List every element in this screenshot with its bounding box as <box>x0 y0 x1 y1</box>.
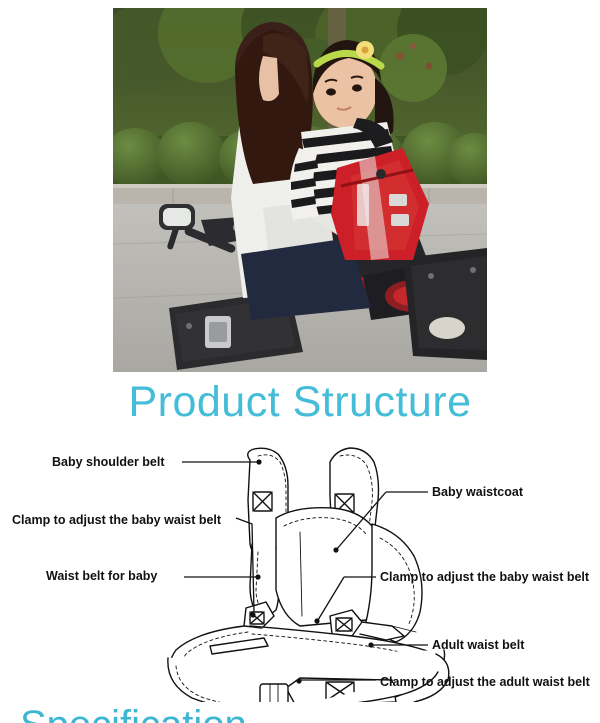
product-photo-illustration <box>113 8 487 372</box>
next-section-title-text: Specification <box>20 703 247 723</box>
label-clamp-baby-waist-belt-left: Clamp to adjust the baby waist belt <box>12 513 221 527</box>
label-baby-shoulder-belt: Baby shoulder belt <box>52 455 165 469</box>
next-section-title: Specification <box>0 703 600 723</box>
label-clamp-adult-waist-belt: Clamp to adjust the adult waist belt <box>380 675 590 689</box>
label-waist-belt-for-baby: Waist belt for baby <box>46 569 157 583</box>
label-baby-waistcoat: Baby waistcoat <box>432 485 523 499</box>
page-title: Product Structure <box>0 378 600 426</box>
label-clamp-baby-waist-belt-right: Clamp to adjust the baby waist belt <box>380 570 589 584</box>
label-adult-waist-belt: Adult waist belt <box>432 638 524 652</box>
product-photo <box>113 8 487 372</box>
